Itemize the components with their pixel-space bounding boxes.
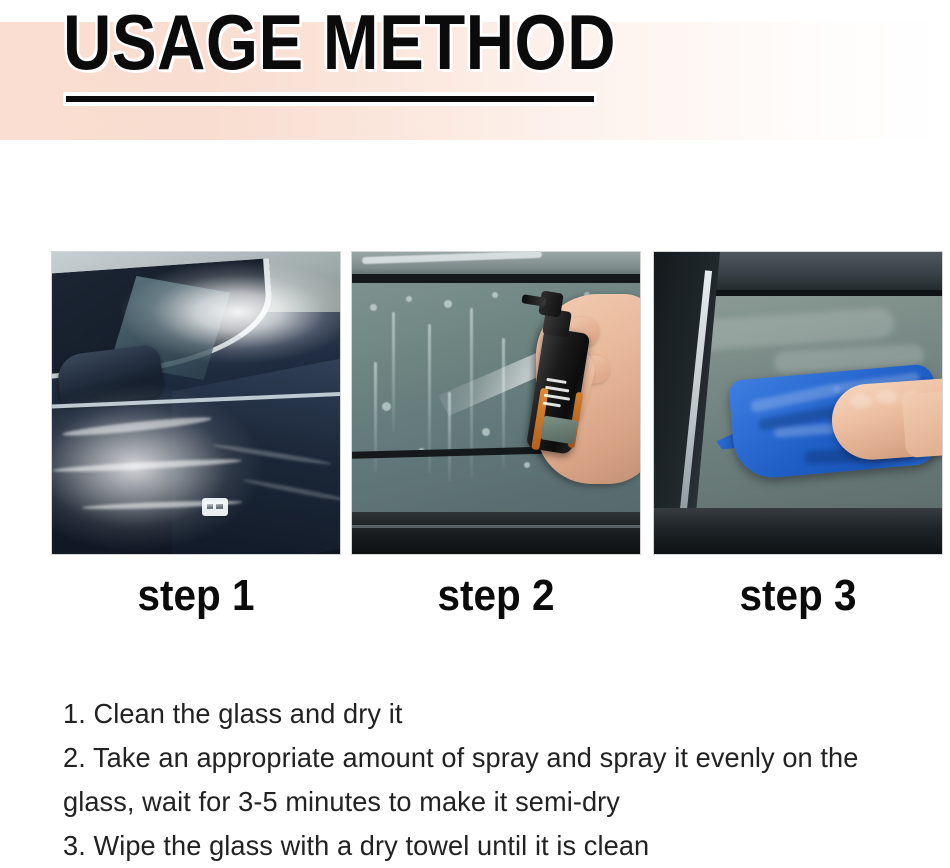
page-title: USAGE METHOD [63, 0, 616, 88]
instruction-line: 1. Clean the glass and dry it [63, 692, 907, 736]
photo3-knuckle [850, 394, 872, 408]
photo2-cowl-highlight [352, 525, 640, 528]
step-card-2 [352, 252, 640, 554]
photo3-knuckle [876, 390, 898, 404]
header-banner: USAGE METHOD [0, 0, 950, 160]
photo2-water-drop [370, 304, 377, 311]
step-label-3: step 3 [666, 570, 931, 622]
photo2-water-drop [406, 296, 412, 302]
instruction-line: glass, wait for 3-5 minutes to make it s… [63, 780, 907, 824]
instruction-line: 2. Take an appropriate amount of spray a… [63, 736, 907, 780]
step-card-3 [654, 252, 942, 554]
title-underline-rule [63, 92, 597, 106]
instructions-block: 1. Clean the glass and dry it 2. Take an… [63, 692, 933, 868]
step-labels-row: step 1 step 2 step 3 [52, 570, 940, 628]
photo2-water-drop [524, 462, 530, 468]
photo2-cowl-panel [352, 512, 640, 554]
step-images-row [52, 252, 940, 554]
photo3-forearm [902, 390, 942, 458]
photo2-water-drop [382, 402, 391, 411]
instruction-line: 3. Wipe the glass with a dry towel until… [63, 824, 907, 868]
photo2-roof-highlight [362, 252, 542, 264]
step-label-2: step 2 [364, 570, 629, 622]
photo2-bottle-label-window [540, 415, 577, 444]
step-card-1 [52, 252, 340, 554]
car-pressure-wash-photo [52, 252, 340, 554]
photo1-water-spray-upper [112, 258, 340, 378]
photo3-hood-panel [654, 508, 942, 554]
photo2-water-drop [492, 292, 498, 298]
photo2-water-drop [482, 428, 490, 436]
photo2-water-drop [444, 300, 452, 308]
photo2-roof-edge-trim [352, 274, 640, 283]
photo2-bottle-label-text [542, 378, 577, 416]
towel-wiping-windshield-photo [654, 252, 942, 554]
step-label-1: step 1 [64, 570, 329, 622]
title-underline-bar [66, 96, 594, 102]
photo1-water-spray-lower [52, 372, 272, 554]
photo2-water-run [392, 312, 395, 432]
hand-spraying-windshield-photo [352, 252, 640, 554]
